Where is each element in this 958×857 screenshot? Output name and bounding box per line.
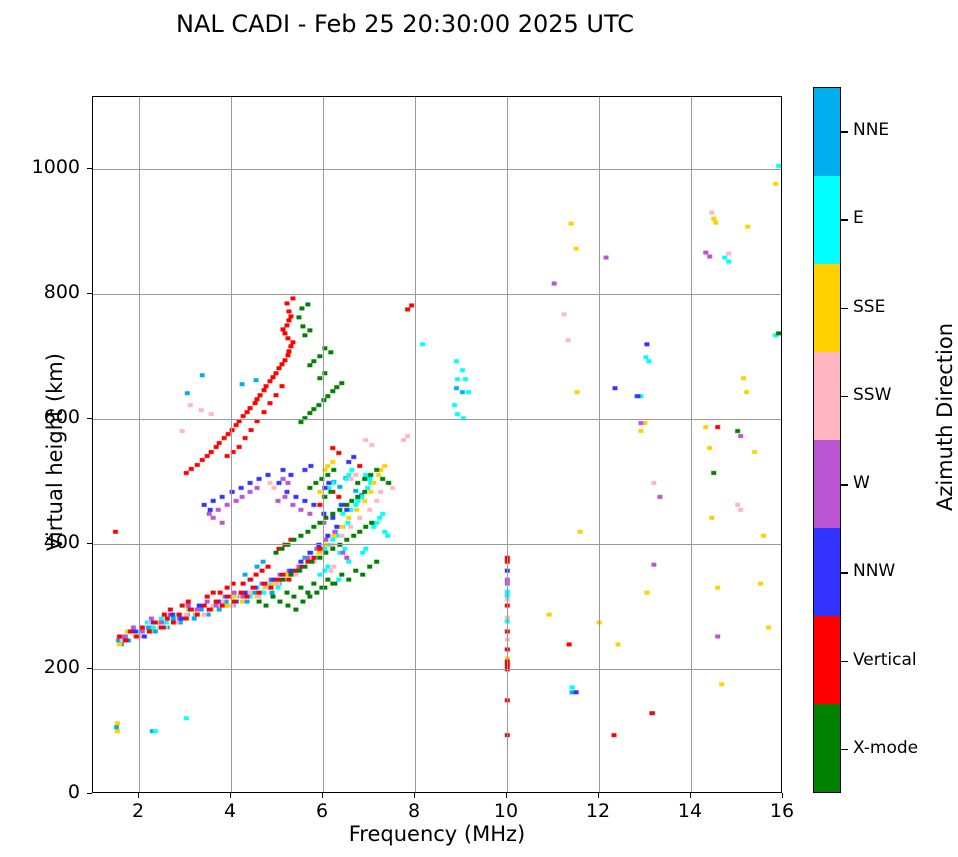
colorbar-tick (841, 572, 848, 573)
colorbar-segment-e[interactable] (814, 176, 840, 264)
x-tick-label: 10 (476, 800, 536, 822)
colorbar-segment-nne[interactable] (814, 88, 840, 176)
gridline-horizontal (93, 294, 781, 295)
colorbar-label-w: W (853, 473, 870, 493)
colorbar-segment-x-mode[interactable] (814, 704, 840, 792)
colorbar-tick (841, 131, 848, 132)
x-tick-label: 4 (200, 800, 260, 822)
gridline-vertical (691, 97, 692, 792)
plot-area[interactable] (92, 96, 782, 793)
colorbar-tick (841, 219, 848, 220)
colorbar-tick (841, 396, 848, 397)
y-tick-label: 200 (10, 656, 80, 678)
x-tick (506, 793, 507, 798)
x-tick-label: 12 (568, 800, 628, 822)
colorbar-label-x-mode: X-mode (853, 738, 918, 758)
y-tick (87, 793, 92, 794)
y-tick-label: 600 (10, 406, 80, 428)
colorbar-tick (841, 308, 848, 309)
colorbar-label-vertical: Vertical (853, 650, 917, 670)
colorbar[interactable] (813, 87, 841, 793)
gridline-horizontal (93, 169, 781, 170)
y-tick (87, 418, 92, 419)
colorbar-segment-w[interactable] (814, 440, 840, 528)
gridline-vertical (415, 97, 416, 792)
y-tick-label: 800 (10, 281, 80, 303)
colorbar-label: Azimuth Direction (933, 267, 957, 567)
x-axis-label: Frequency (MHz) (92, 822, 782, 846)
colorbar-segment-ssw[interactable] (814, 352, 840, 440)
y-tick-label: 0 (10, 781, 80, 803)
y-tick (87, 168, 92, 169)
x-tick-label: 8 (384, 800, 444, 822)
x-tick (138, 793, 139, 798)
x-tick-label: 14 (660, 800, 720, 822)
gridline-horizontal (93, 669, 781, 670)
colorbar-segment-nnw[interactable] (814, 528, 840, 616)
page-title: NAL CADI - Feb 25 20:30:00 2025 UTC (0, 10, 810, 38)
y-tick (87, 668, 92, 669)
x-tick (414, 793, 415, 798)
colorbar-label-nne: NNE (853, 120, 889, 140)
gridline-horizontal (93, 419, 781, 420)
y-tick (87, 293, 92, 294)
gridline-vertical (139, 97, 140, 792)
scatter-canvas (93, 97, 781, 792)
y-tick-label: 400 (10, 531, 80, 553)
colorbar-label-nnw: NNW (853, 561, 895, 581)
gridline-horizontal (93, 544, 781, 545)
colorbar-tick (841, 661, 848, 662)
y-axis-label: Virtual height (km) (43, 302, 67, 602)
colorbar-segment-vertical[interactable] (814, 616, 840, 704)
y-tick (87, 543, 92, 544)
gridline-vertical (323, 97, 324, 792)
ionogram-figure: NAL CADI - Feb 25 20:30:00 2025 UTC Virt… (0, 0, 958, 857)
x-tick-label: 16 (752, 800, 812, 822)
colorbar-label-e: E (853, 208, 864, 228)
x-tick (322, 793, 323, 798)
x-tick (230, 793, 231, 798)
colorbar-label-sse: SSE (853, 297, 885, 317)
x-tick (782, 793, 783, 798)
gridline-vertical (599, 97, 600, 792)
x-tick-label: 6 (292, 800, 352, 822)
x-tick-label: 2 (108, 800, 168, 822)
colorbar-tick (841, 484, 848, 485)
colorbar-tick (841, 749, 848, 750)
x-tick (598, 793, 599, 798)
gridline-vertical (231, 97, 232, 792)
gridline-vertical (507, 97, 508, 792)
x-tick (690, 793, 691, 798)
colorbar-segment-sse[interactable] (814, 264, 840, 352)
colorbar-label-ssw: SSW (853, 385, 891, 405)
y-tick-label: 1000 (10, 156, 80, 178)
